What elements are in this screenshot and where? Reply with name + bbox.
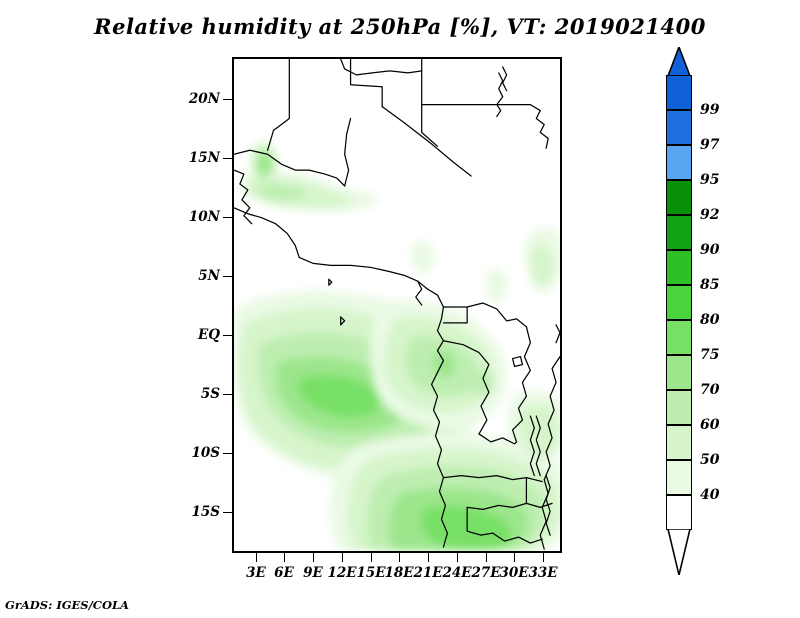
colorbar-swatch-97-99 bbox=[666, 110, 692, 145]
x-label-3E: 3E bbox=[246, 565, 266, 581]
x-tick bbox=[514, 553, 515, 562]
map-plot-area: 20N 15N 10N 5N EQ 5S 10S 15S 3E 6E 9E 12… bbox=[232, 57, 562, 553]
colorbar-label-40: 40 bbox=[700, 487, 719, 503]
colorbar-label-70: 70 bbox=[700, 382, 719, 398]
colorbar-swatch-80-85 bbox=[666, 285, 692, 320]
x-label-18E: 18E bbox=[384, 565, 413, 581]
colorbar-swatch-50-60 bbox=[666, 425, 692, 460]
colorbar-label-99: 99 bbox=[700, 102, 719, 118]
x-tick bbox=[256, 553, 257, 562]
x-label-9E: 9E bbox=[303, 565, 323, 581]
y-label-10N: 10N bbox=[189, 209, 220, 225]
colorbar-over-arrow bbox=[666, 47, 692, 76]
y-label-5N: 5N bbox=[198, 268, 220, 284]
y-tick bbox=[223, 394, 232, 395]
x-label-21E: 21E bbox=[413, 565, 442, 581]
colorbar: 99 97 95 92 90 85 80 75 70 60 50 40 bbox=[666, 75, 692, 555]
colorbar-swatch-under40 bbox=[666, 495, 692, 530]
y-tick bbox=[223, 99, 232, 100]
colorbar-swatch-over99 bbox=[666, 75, 692, 110]
x-label-30E: 30E bbox=[499, 565, 528, 581]
y-tick bbox=[223, 453, 232, 454]
colorbar-label-80: 80 bbox=[700, 312, 719, 328]
map-frame bbox=[232, 57, 562, 553]
x-tick bbox=[486, 553, 487, 562]
colorbar-swatch-75-80 bbox=[666, 320, 692, 355]
x-tick bbox=[342, 553, 343, 562]
y-label-15S: 15S bbox=[191, 504, 220, 520]
colorbar-swatch-92-95 bbox=[666, 180, 692, 215]
x-label-24E: 24E bbox=[442, 565, 471, 581]
y-tick bbox=[223, 512, 232, 513]
colorbar-swatch-40-50 bbox=[666, 460, 692, 495]
colorbar-swatch-70-75 bbox=[666, 355, 692, 390]
y-tick bbox=[223, 158, 232, 159]
x-tick bbox=[371, 553, 372, 562]
y-tick bbox=[223, 276, 232, 277]
y-label-20N: 20N bbox=[189, 91, 220, 107]
colorbar-label-92: 92 bbox=[700, 207, 719, 223]
colorbar-label-60: 60 bbox=[700, 417, 719, 433]
x-tick bbox=[399, 553, 400, 562]
colorbar-label-75: 75 bbox=[700, 347, 719, 363]
colorbar-label-97: 97 bbox=[700, 137, 719, 153]
credit-text: GrADS: IGES/COLA bbox=[5, 598, 129, 612]
x-tick bbox=[428, 553, 429, 562]
colorbar-swatch-95-97 bbox=[666, 145, 692, 180]
x-label-27E: 27E bbox=[471, 565, 500, 581]
colorbar-label-95: 95 bbox=[700, 172, 719, 188]
y-label-15N: 15N bbox=[189, 150, 220, 166]
x-tick bbox=[457, 553, 458, 562]
y-tick bbox=[223, 217, 232, 218]
x-tick bbox=[313, 553, 314, 562]
x-tick bbox=[284, 553, 285, 562]
x-label-33E: 33E bbox=[528, 565, 557, 581]
y-tick bbox=[223, 335, 232, 336]
x-label-6E: 6E bbox=[274, 565, 294, 581]
colorbar-label-85: 85 bbox=[700, 277, 719, 293]
colorbar-under-arrow bbox=[666, 529, 692, 575]
y-label-10S: 10S bbox=[191, 445, 220, 461]
x-tick bbox=[543, 553, 544, 562]
page-title: Relative humidity at 250hPa [%], VT: 201… bbox=[0, 14, 800, 39]
colorbar-label-90: 90 bbox=[700, 242, 719, 258]
y-label-5S: 5S bbox=[201, 386, 220, 402]
x-label-12E: 12E bbox=[327, 565, 356, 581]
y-label-EQ: EQ bbox=[198, 327, 220, 343]
colorbar-label-50: 50 bbox=[700, 452, 719, 468]
colorbar-swatch-90-92 bbox=[666, 215, 692, 250]
colorbar-swatch-85-90 bbox=[666, 250, 692, 285]
map-canvas bbox=[234, 59, 560, 551]
x-label-15E: 15E bbox=[356, 565, 385, 581]
colorbar-swatch-60-70 bbox=[666, 390, 692, 425]
